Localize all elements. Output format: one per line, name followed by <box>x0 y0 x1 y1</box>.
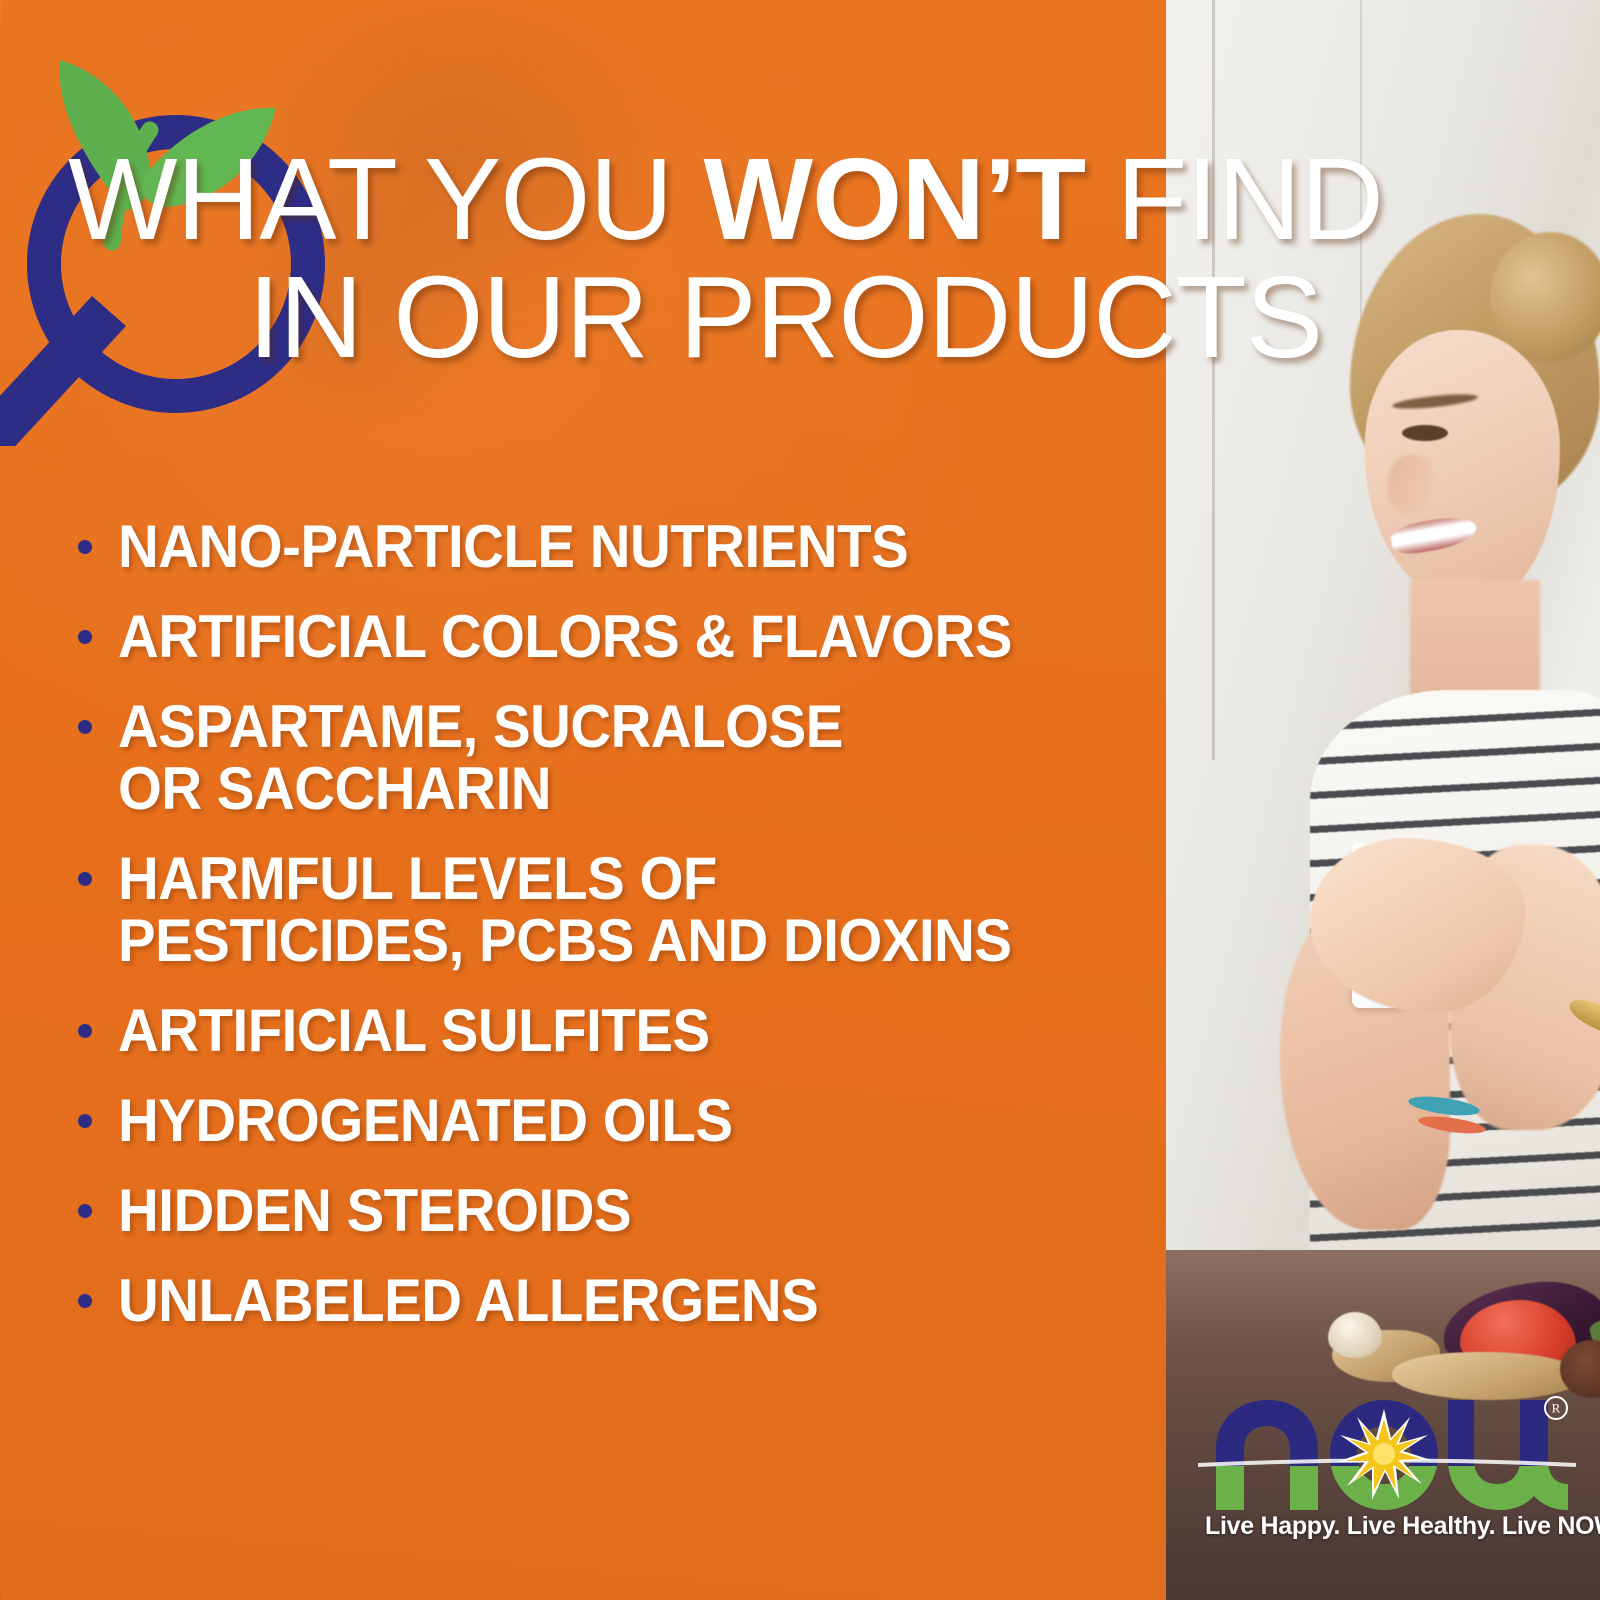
now-foods-logo: R <box>1198 1392 1576 1525</box>
list-item: HYDROGENATED OILS <box>78 1090 1148 1152</box>
list-item-line-1: HIDDEN STEROIDS <box>118 1177 631 1244</box>
list-item-text: UNLABELED ALLERGENS <box>118 1270 818 1332</box>
list-item-line-1: HARMFUL LEVELS OF <box>118 845 717 912</box>
headline-text-part2: FIND <box>1085 134 1383 264</box>
list-item-line-1: NANO-PARTICLE NUTRIENTS <box>118 513 908 580</box>
list-item-line-2: PESTICIDES, PCBS AND DIOXINS <box>118 910 1012 972</box>
bullet-dot-icon <box>78 1204 92 1218</box>
headline-line-1: WHAT YOU WON’T FIND <box>0 140 1560 258</box>
list-item-line-1: HYDROGENATED OILS <box>118 1087 733 1154</box>
bullet-dot-icon <box>78 630 92 644</box>
brand-tagline: Live Happy. Live Healthy. Live NOW. <box>1205 1512 1577 1541</box>
promotional-graphic: WHAT YOU WON’T FIND IN OUR PRODUCTS NANO… <box>0 0 1600 1600</box>
bullet-dot-icon <box>78 720 92 734</box>
list-item-text: HYDROGENATED OILS <box>118 1090 733 1152</box>
svg-text:R: R <box>1552 1401 1561 1416</box>
list-item-text: NANO-PARTICLE NUTRIENTS <box>118 516 908 578</box>
headline-text-part1: WHAT YOU <box>68 134 704 264</box>
headline-line-2: IN OUR PRODUCTS <box>0 258 1560 376</box>
garlic-bulb <box>1328 1312 1382 1358</box>
list-item-line-1: ARTIFICIAL SULFITES <box>118 997 710 1064</box>
list-item: UNLABELED ALLERGENS <box>78 1270 1148 1332</box>
bullet-dot-icon <box>78 1024 92 1038</box>
bullet-dot-icon <box>78 1114 92 1128</box>
list-item-line-1: UNLABELED ALLERGENS <box>118 1267 818 1334</box>
list-item-line-1: ARTIFICIAL COLORS & FLAVORS <box>118 603 1012 670</box>
list-item-line-1: ASPARTAME, SUCRALOSE <box>118 693 843 760</box>
list-item-text: ASPARTAME, SUCRALOSE OR SACCHARIN <box>118 696 843 820</box>
bullet-dot-icon <box>78 540 92 554</box>
list-item: HIDDEN STEROIDS <box>78 1180 1148 1242</box>
list-item: NANO-PARTICLE NUTRIENTS <box>78 516 1148 578</box>
list-item-text: ARTIFICIAL SULFITES <box>118 1000 710 1062</box>
list-item: HARMFUL LEVELS OF PESTICIDES, PCBS AND D… <box>78 848 1148 972</box>
bullet-dot-icon <box>78 872 92 886</box>
exclusion-list: NANO-PARTICLE NUTRIENTS ARTIFICIAL COLOR… <box>78 516 1148 1360</box>
nose <box>1388 455 1432 513</box>
list-item-text: HARMFUL LEVELS OF PESTICIDES, PCBS AND D… <box>118 848 1012 972</box>
bullet-dot-icon <box>78 1294 92 1308</box>
list-item-text: HIDDEN STEROIDS <box>118 1180 631 1242</box>
list-item-text: ARTIFICIAL COLORS & FLAVORS <box>118 606 1012 668</box>
page-title: WHAT YOU WON’T FIND IN OUR PRODUCTS <box>0 140 1560 376</box>
list-item-line-2: OR SACCHARIN <box>118 758 843 820</box>
eye <box>1402 425 1448 441</box>
list-item: ARTIFICIAL COLORS & FLAVORS <box>78 606 1148 668</box>
list-item: ARTIFICIAL SULFITES <box>78 1000 1148 1062</box>
list-item: ASPARTAME, SUCRALOSE OR SACCHARIN <box>78 696 1148 820</box>
headline-emphasis: WON’T <box>704 134 1086 264</box>
